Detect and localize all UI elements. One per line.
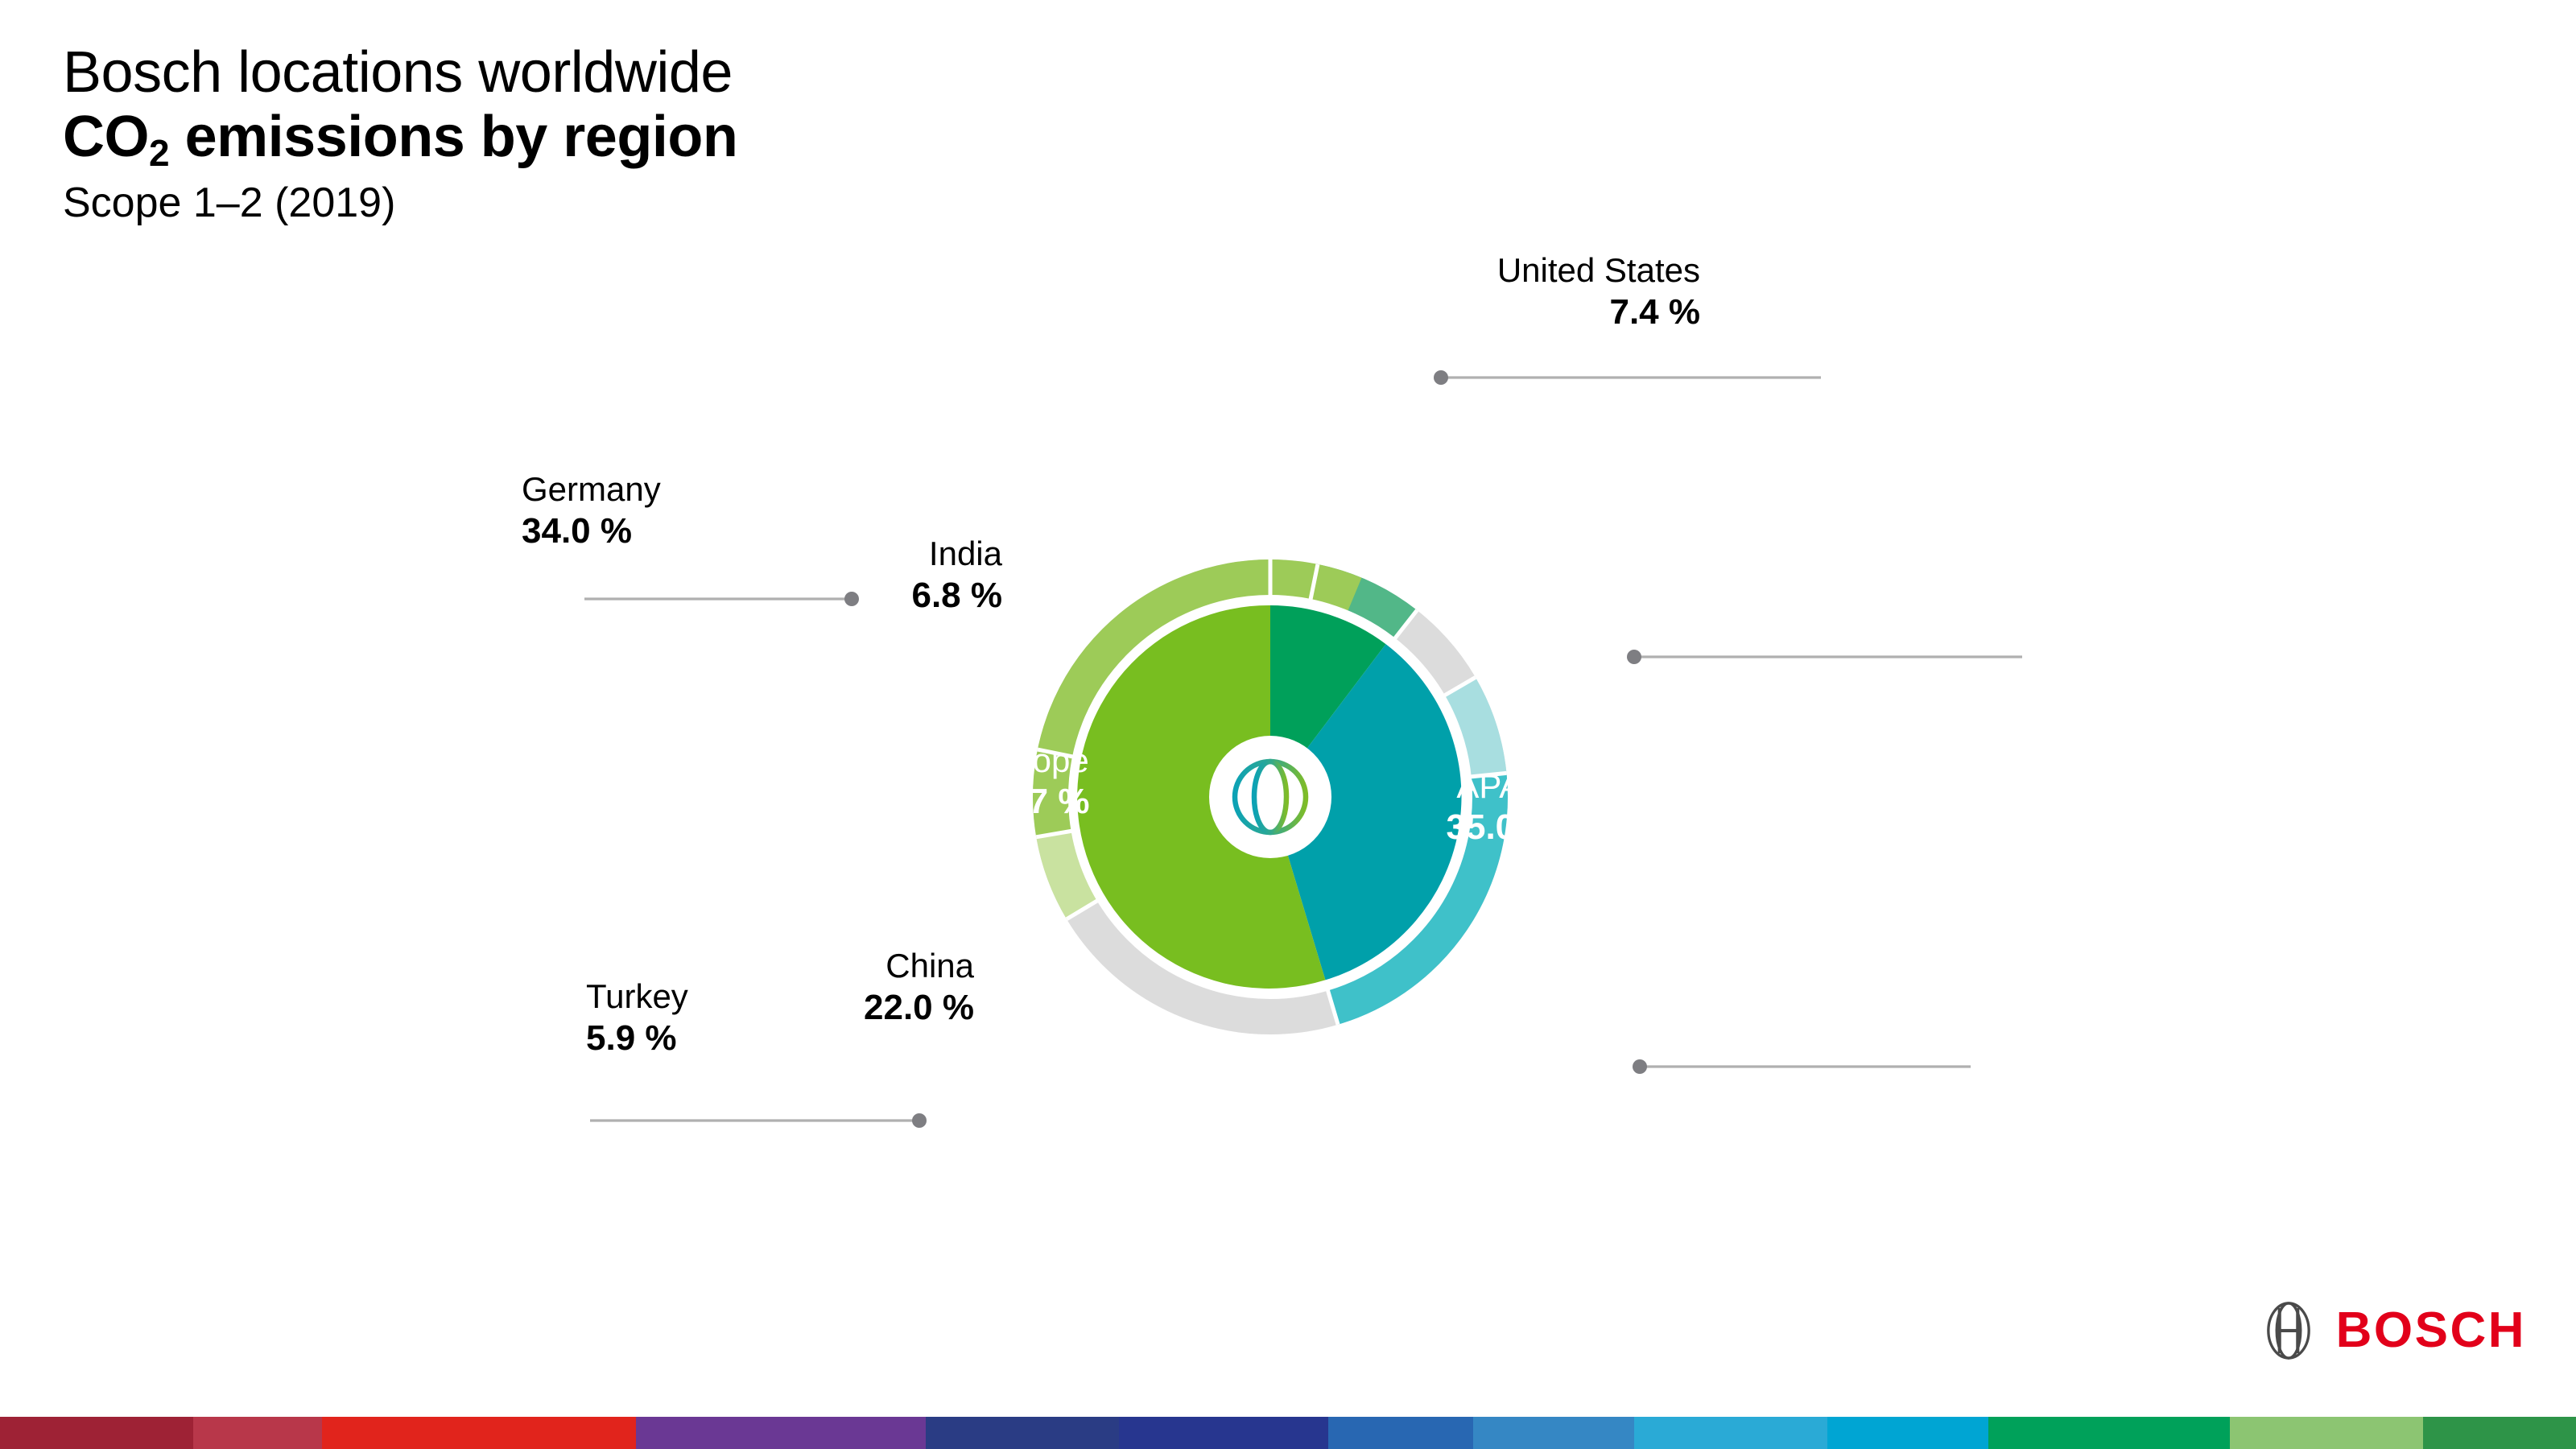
supergraphic-segment	[1634, 1417, 1827, 1449]
supergraphic-segment	[1827, 1417, 1988, 1449]
slice-label-americas-name: Americas	[1264, 473, 1473, 514]
donut-chart-svg	[0, 0, 2576, 1449]
bosch-wordmark: BOSCH	[2336, 1306, 2526, 1356]
callout-germany: Germany 34.0 %	[522, 469, 661, 553]
callout-china-name: China	[864, 945, 974, 986]
leader-dot-china	[1633, 1059, 1647, 1074]
supergraphic-segment	[1473, 1417, 1634, 1449]
slice-label-americas-value: 10.3 %	[1264, 514, 1473, 556]
callout-united-states-name: United States	[1497, 250, 1700, 291]
supergraphic-segment	[2423, 1417, 2576, 1449]
callout-india-value: 6.8 %	[911, 574, 1002, 617]
globe-icon	[1235, 762, 1306, 832]
leader-dot-germany	[844, 592, 859, 606]
callout-india-name: India	[911, 533, 1002, 574]
supergraphic-segment	[636, 1417, 926, 1449]
callout-united-states-value: 7.4 %	[1497, 291, 1700, 334]
callout-india: India 6.8 %	[911, 533, 1002, 617]
supergraphic-segment	[193, 1417, 322, 1449]
slice-label-apac-name: APAC	[1409, 766, 1594, 807]
slice-label-apac-value: 35.0 %	[1409, 807, 1594, 849]
supergraphic-segment	[1328, 1417, 1473, 1449]
bosch-supergraphic	[0, 1417, 2576, 1449]
supergraphic-segment	[2230, 1417, 2423, 1449]
callout-china-value: 22.0 %	[864, 986, 974, 1030]
callout-germany-name: Germany	[522, 469, 661, 510]
callout-united-states: United States 7.4 %	[1497, 250, 1700, 334]
slice-label-apac: APAC 35.0 %	[1409, 766, 1594, 849]
callout-turkey: Turkey 5.9 %	[586, 976, 688, 1060]
callout-germany-value: 34.0 %	[522, 510, 661, 553]
bosch-logo: BOSCH	[2259, 1301, 2526, 1360]
slice-label-europe-name: Europe	[942, 741, 1127, 781]
bosch-armature-icon	[2259, 1301, 2318, 1360]
slice-label-americas: Americas 10.3 %	[1264, 473, 1473, 556]
supergraphic-segment	[322, 1417, 636, 1449]
leader-dot-turkey	[912, 1113, 927, 1128]
leader-dot-india	[1627, 650, 1641, 664]
callout-china: China 22.0 %	[864, 945, 974, 1030]
leader-dot-united-states	[1434, 370, 1448, 385]
callout-turkey-value: 5.9 %	[586, 1017, 688, 1060]
donut-chart: Americas 10.3 % APAC 35.0 % Europe 54.7 …	[0, 0, 2576, 1449]
supergraphic-segment	[926, 1417, 1119, 1449]
supergraphic-segment	[1988, 1417, 2230, 1449]
supergraphic-segment	[1119, 1417, 1328, 1449]
slice-label-europe: Europe 54.7 %	[942, 741, 1127, 824]
slice-label-europe-value: 54.7 %	[942, 781, 1127, 824]
callout-turkey-name: Turkey	[586, 976, 688, 1017]
supergraphic-segment	[0, 1417, 193, 1449]
